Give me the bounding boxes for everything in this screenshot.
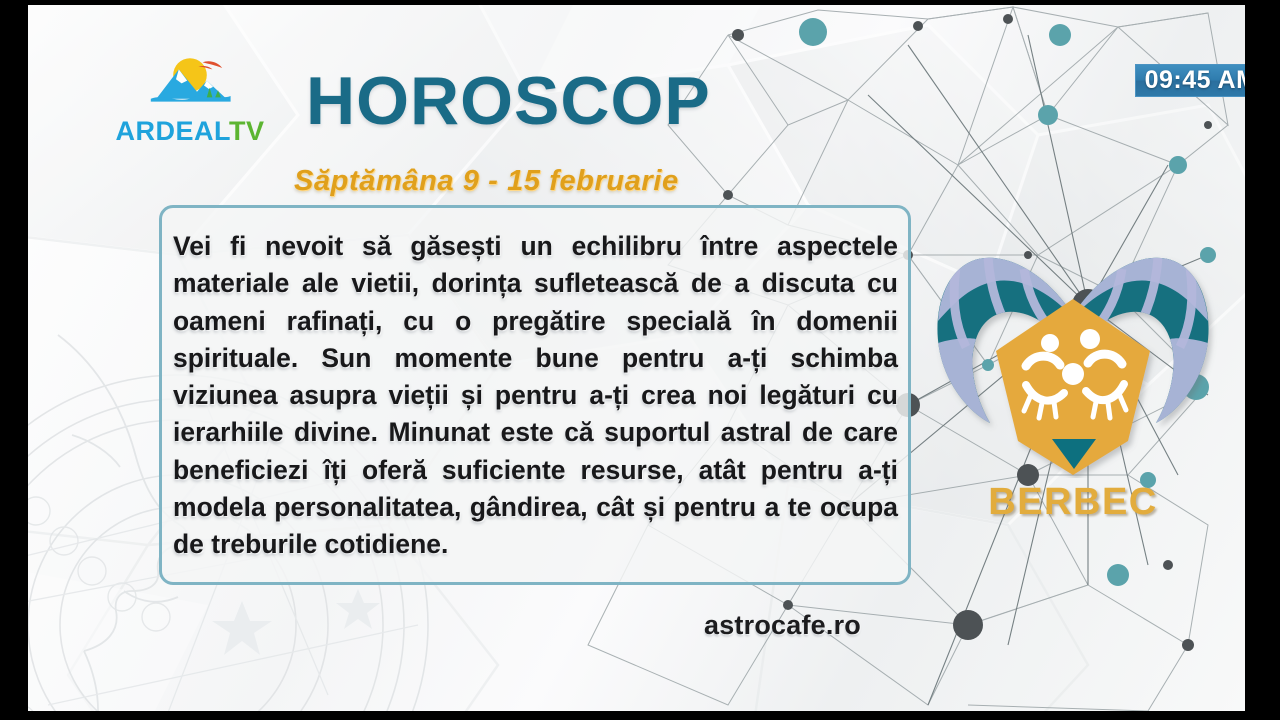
broadcast-screen: ARDEALTV HOROSCOP Săptămâna 9 - 15 febru…	[0, 0, 1280, 720]
mountain-sun-icon	[120, 49, 260, 115]
source-website: astrocafe.ro	[704, 610, 861, 641]
aries-ram-icon	[928, 243, 1218, 478]
page-title: HOROSCOP	[306, 67, 711, 135]
logo-ardeal-text: ARDEAL	[115, 116, 229, 146]
horoscope-text-panel: Vei fi nevoit să găsești un echilibru în…	[159, 205, 911, 585]
logo-wordmark: ARDEALTV	[90, 116, 290, 147]
horoscope-body-text: Vei fi nevoit să găsești un echilibru în…	[173, 228, 898, 564]
zodiac-sign-name: BERBEC	[928, 481, 1218, 524]
clock-time: 09:45 AM	[1145, 66, 1245, 95]
logo-tv-text: TV	[229, 116, 265, 146]
channel-logo: ARDEALTV	[90, 49, 290, 149]
week-range-subtitle: Săptămâna 9 - 15 februarie	[294, 165, 679, 198]
video-frame: ARDEALTV HOROSCOP Săptămâna 9 - 15 febru…	[28, 5, 1245, 711]
clock-badge: 09:45 AM	[1135, 64, 1245, 97]
